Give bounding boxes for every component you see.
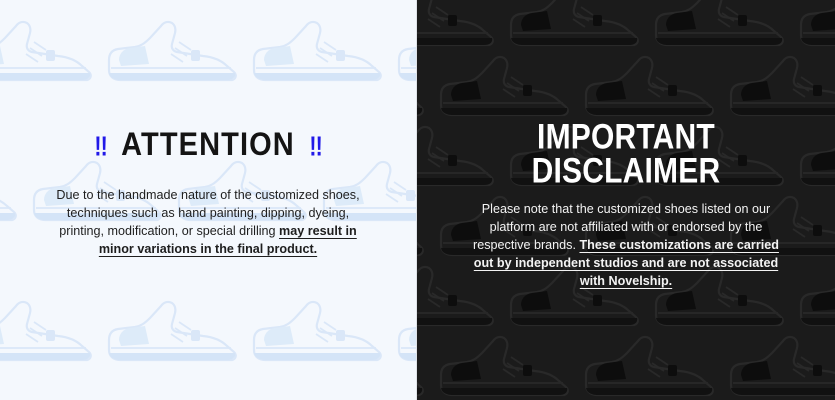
disclaimer-panel: IMPORTANT DISCLAIMER Please note that th…	[417, 0, 835, 400]
attention-title: ATTENTION	[121, 129, 295, 161]
attention-panel: !! ATTENTION !! Due to the handmade natu…	[0, 0, 417, 400]
exclamation-left-icon: !!	[94, 131, 107, 159]
exclamation-right-icon: !!	[309, 131, 322, 159]
dual-notice-banner: !! ATTENTION !! Due to the handmade natu…	[0, 0, 835, 400]
disclaimer-heading-line1: IMPORTANT	[532, 120, 721, 154]
disclaimer-heading: IMPORTANT DISCLAIMER	[532, 120, 721, 188]
attention-heading: !! ATTENTION !!	[93, 131, 323, 160]
disclaimer-body-text: Please note that the customized shoes li…	[467, 200, 785, 290]
disclaimer-heading-line2: DISCLAIMER	[532, 154, 721, 188]
attention-body-text: Due to the handmade nature of the custom…	[53, 186, 363, 258]
